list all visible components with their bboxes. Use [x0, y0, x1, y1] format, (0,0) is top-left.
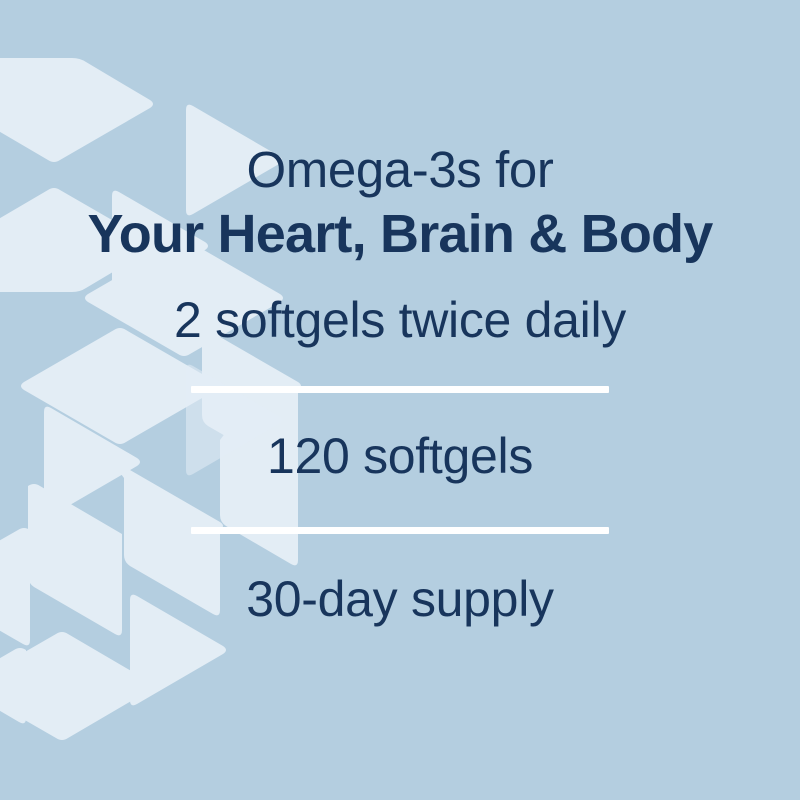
headline-line-2: Your Heart, Brain & Body [0, 202, 800, 266]
divider-top [191, 386, 609, 393]
headline-block: Omega-3s for Your Heart, Brain & Body [0, 138, 800, 266]
card-content: Omega-3s for Your Heart, Brain & Body 2 … [0, 0, 800, 800]
supply-duration-text: 30-day supply [0, 569, 800, 629]
dosage-text: 2 softgels twice daily [0, 290, 800, 350]
product-info-card: Omega-3s for Your Heart, Brain & Body 2 … [0, 0, 800, 800]
softgel-count-text: 120 softgels [0, 426, 800, 486]
headline-line-1: Omega-3s for [0, 138, 800, 202]
divider-bottom [191, 527, 609, 534]
